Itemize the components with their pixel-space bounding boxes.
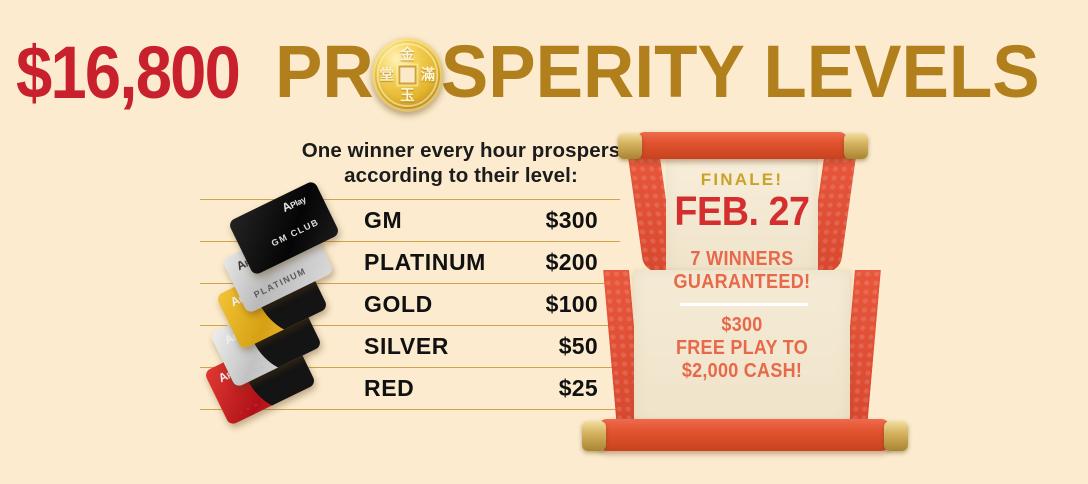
title-prize-amount: $16,800	[16, 30, 239, 115]
title-word-prefix: PR	[275, 29, 374, 114]
prize-line-1: $300	[721, 314, 762, 336]
scroll-roller-top	[636, 132, 848, 159]
tier-name: SILVER	[364, 333, 449, 360]
coin-char-top: 金	[401, 47, 415, 62]
tier-amount: $100	[500, 291, 598, 318]
roller-cap-top-right	[844, 133, 868, 159]
coin-char-bottom: 玉	[401, 88, 415, 103]
tier-name: RED	[364, 375, 414, 402]
promo-banner: $16,800 PR 金 滿 玉 堂 SPERITY LEVELS One wi…	[0, 0, 1088, 484]
winners-line-2: GUARANTEED!	[674, 271, 811, 293]
prize-line-2: FREE PLAY TO	[676, 337, 808, 359]
tier-name: PLATINUM	[364, 249, 486, 276]
player-cards-stack: ♥ APlay ■ ■ ■ ♣ APlay ■ ■ ■ ♦ APlay ■ ■ …	[206, 196, 356, 411]
title-word: PR 金 滿 玉 堂 SPERITY LEVELS	[275, 29, 1040, 114]
scroll-banner: FINALE! FEB. 27 7 WINNERS GUARANTEED! $3…	[588, 122, 918, 452]
tier-name: GM	[364, 207, 402, 234]
tier-amount: $200	[500, 249, 598, 276]
page-title: $16,800 PR 金 滿 玉 堂 SPERITY LEVELS	[0, 24, 1088, 120]
prize-range: $300 FREE PLAY TO $2,000 CASH!	[643, 314, 841, 383]
tier-amount: $50	[500, 333, 598, 360]
gold-coin-icon: 金 滿 玉 堂	[372, 38, 443, 112]
roller-cap-bottom-right	[884, 421, 908, 451]
tier-amount: $25	[500, 375, 598, 402]
finale-date: FEB. 27	[665, 188, 820, 235]
winners-guarantee: 7 WINNERS GUARANTEED!	[645, 248, 839, 294]
coin-char-left: 堂	[380, 67, 394, 82]
scroll-roller-bottom	[598, 419, 890, 451]
card-tier-label: GM CLUB	[270, 217, 321, 249]
scroll-divider	[680, 303, 808, 306]
roller-cap-top-left	[618, 133, 642, 159]
tier-name: GOLD	[364, 291, 433, 318]
finale-label: FINALE!	[666, 170, 818, 190]
winners-line-1: 7 WINNERS	[690, 248, 793, 270]
card-logo: APlay	[281, 194, 307, 213]
coin-char-right: 滿	[421, 67, 435, 82]
card-logo-brand: Play	[288, 194, 307, 210]
card-dots: ■ ■ ■	[238, 401, 260, 416]
title-word-suffix: SPERITY LEVELS	[441, 29, 1040, 114]
coin-square-hole	[399, 65, 417, 84]
roller-cap-bottom-left	[582, 421, 606, 451]
prize-line-3: $2,000 CASH!	[682, 360, 802, 382]
tier-amount: $300	[500, 207, 598, 234]
